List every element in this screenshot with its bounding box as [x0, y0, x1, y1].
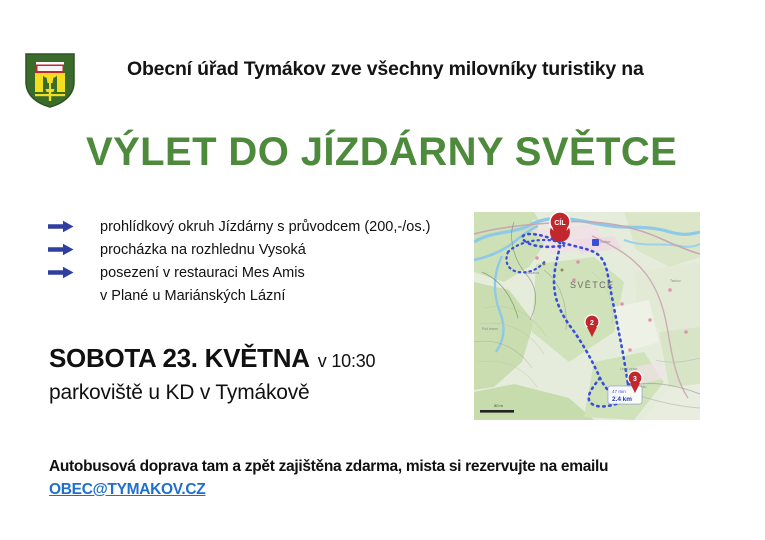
- arrow-right-icon: [48, 262, 100, 279]
- svg-text:2: 2: [590, 320, 594, 327]
- list-item-continuation: v Plané u Mariánských Lázní: [100, 285, 468, 308]
- list-item-label: prohlídkový okruh Jízdárny s průvodcem (…: [100, 216, 430, 239]
- invitation-line: Obecní úřad Tymákov zve všechny milovník…: [127, 58, 644, 81]
- svg-text:47 min: 47 min: [612, 389, 626, 394]
- arrow-right-icon: [48, 216, 100, 233]
- list-item-label: procházka na rozhlednu Vysoká: [100, 239, 306, 262]
- svg-text:2.4 km: 2.4 km: [612, 396, 632, 403]
- svg-text:Tachov: Tachov: [670, 279, 681, 283]
- contact-email-link[interactable]: OBEC@TYMAKOV.CZ: [49, 481, 205, 499]
- list-item: prohlídkový okruh Jízdárny s průvodcem (…: [48, 216, 468, 239]
- svg-text:Jízdárna: Jízdárna: [526, 271, 539, 275]
- list-item: posezení v restauraci Mes Amis: [48, 262, 468, 285]
- route-map-image: SVĚTCE Světce Tachov Jízdárna Lesní cest…: [474, 212, 700, 420]
- departure-place: parkoviště u KD v Tymákově: [49, 381, 375, 405]
- arrow-right-icon: [48, 239, 100, 256]
- map-place-label: SVĚTCE: [570, 280, 614, 290]
- svg-text:CÍL: CÍL: [554, 218, 566, 227]
- map-marker-finish: CÍL: [550, 212, 570, 242]
- footer-block: Autobusová doprava tam a zpět zajištěna …: [49, 458, 608, 499]
- svg-text:50 m: 50 m: [494, 403, 504, 408]
- list-item: procházka na rozhlednu Vysoká: [48, 239, 468, 262]
- svg-text:3: 3: [633, 376, 637, 383]
- departure-block: SOBOTA 23. KVĚTNAv 10:30 parkoviště u KD…: [49, 345, 375, 405]
- program-list: prohlídkový okruh Jízdárny s průvodcem (…: [48, 216, 468, 308]
- svg-text:Pod lesem: Pod lesem: [482, 327, 498, 331]
- departure-time: v 10:30: [318, 351, 376, 371]
- page-title: VÝLET DO JÍZDÁRNY SVĚTCE: [86, 130, 677, 175]
- departure-date: SOBOTA 23. KVĚTNA: [49, 343, 310, 373]
- list-item-label: posezení v restauraci Mes Amis: [100, 262, 305, 285]
- event-poster: Obecní úřad Tymákov zve všechny milovník…: [0, 0, 765, 540]
- svg-text:Lesní cesta: Lesní cesta: [620, 367, 637, 371]
- svg-text:Světce: Světce: [600, 240, 610, 244]
- tymakov-coat-of-arms-icon: [24, 52, 76, 108]
- transport-note: Autobusová doprava tam a zpět zajištěna …: [49, 458, 608, 476]
